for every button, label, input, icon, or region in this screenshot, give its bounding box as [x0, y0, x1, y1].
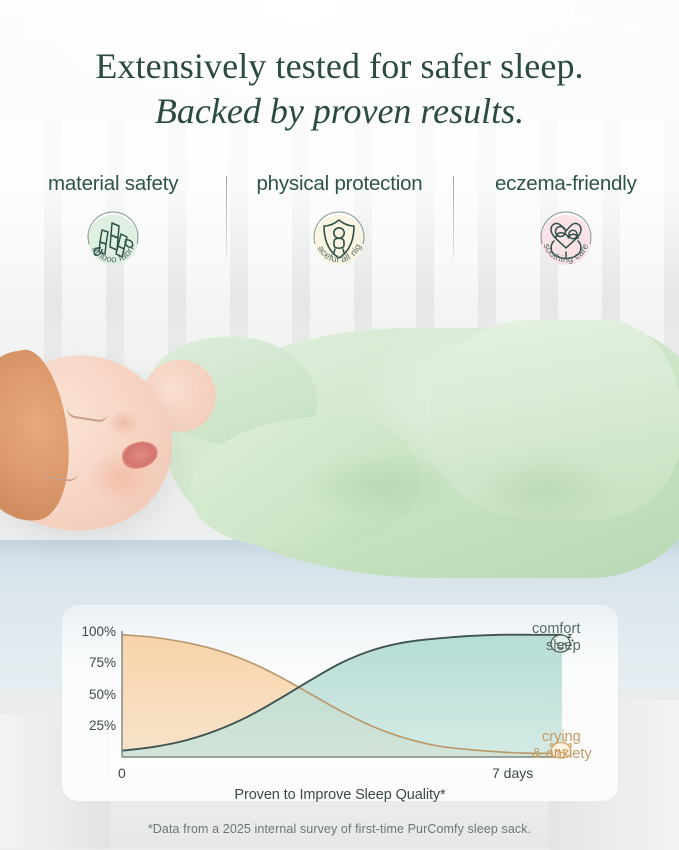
badge-mark: peaceful all night — [291, 200, 387, 284]
legend-comfort-sleep: comfort sleep — [532, 621, 581, 655]
y-tick-50: 50% — [64, 688, 116, 702]
badge-material-safety[interactable]: material safety bamboo fabric — [0, 172, 226, 284]
badge-mark: soothing care — [518, 200, 614, 284]
badge-title: material safety — [0, 172, 226, 196]
page-headline: Extensively tested for safer sleep. Back… — [0, 44, 679, 134]
legend-crying-anxiety: crying & anxiety — [532, 729, 592, 763]
chart-title: Proven to Improve Sleep Quality* — [62, 787, 618, 803]
legend-crying-line-2: & anxiety — [532, 746, 592, 763]
x-tick-end: 7 days — [492, 765, 533, 781]
chart-area: 100% 75% 50% 25% 0 7 days Proven to Impr… — [62, 605, 618, 801]
feature-badges: material safety bamboo fabric — [0, 172, 679, 282]
headline-line-2: Backed by proven results. — [0, 88, 679, 134]
fabric-fold — [300, 450, 460, 520]
legend-crying-line-1: crying — [532, 729, 592, 746]
sleeping-baby-photo — [0, 300, 679, 575]
sleep-quality-chart-card: 100% 75% 50% 25% 0 7 days Proven to Impr… — [62, 605, 618, 801]
legend-comfort-line-2: sleep — [532, 638, 581, 655]
plot-group — [122, 635, 562, 757]
y-tick-75: 75% — [64, 656, 116, 670]
y-tick-100: 100% — [64, 625, 116, 639]
badge-mark: bamboo fabric — [65, 200, 161, 284]
y-tick-25: 25% — [64, 719, 116, 733]
fabric-fold — [470, 450, 620, 530]
headline-line-1: Extensively tested for safer sleep. — [0, 44, 679, 88]
footnote: *Data from a 2025 internal survey of fir… — [0, 822, 679, 836]
legend-comfort-line-1: comfort — [532, 621, 581, 638]
badge-physical-protection[interactable]: physical protection peaceful all night — [226, 172, 452, 284]
baby-nose — [110, 412, 140, 436]
badge-eczema-friendly[interactable]: eczema-friendly soothing care — [453, 172, 679, 284]
badge-title: physical protection — [226, 172, 452, 196]
x-tick-start: 0 — [118, 765, 126, 781]
badge-title: eczema-friendly — [453, 172, 679, 196]
